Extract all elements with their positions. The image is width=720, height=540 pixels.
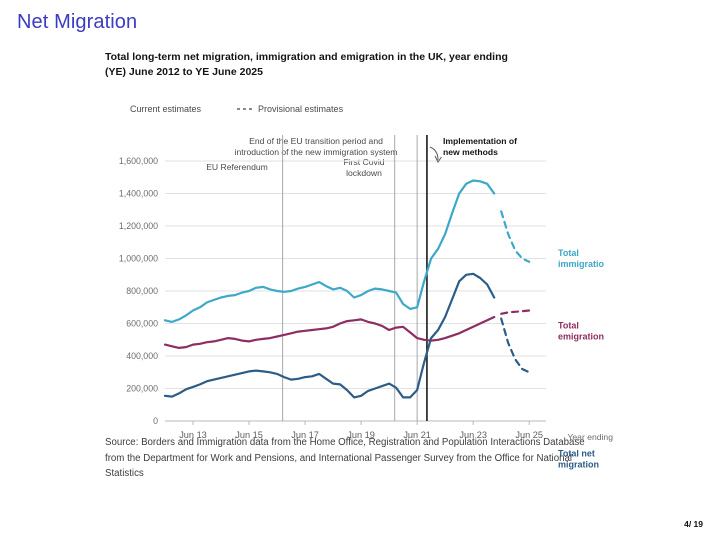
svg-text:800,000: 800,000 xyxy=(126,286,158,296)
svg-text:1,600,000: 1,600,000 xyxy=(119,156,158,166)
slide-title: Net Migration xyxy=(17,11,137,34)
svg-text:Total: Total xyxy=(558,321,579,331)
legend-item-provisional: Provisional estimates xyxy=(237,104,343,114)
svg-text:1,400,000: 1,400,000 xyxy=(119,189,158,199)
legend-label-provisional: Provisional estimates xyxy=(258,104,343,114)
figure-container: Total long-term net migration, immigrati… xyxy=(105,50,615,490)
svg-text:400,000: 400,000 xyxy=(126,351,158,361)
chart-y-axis-labels: 0200,000400,000600,000800,0001,000,0001,… xyxy=(119,156,158,426)
dashed-line-icon xyxy=(237,108,254,110)
figure-source: Source: Borders and Immigration data fro… xyxy=(105,435,605,482)
legend-item-current: Current estimates xyxy=(130,104,201,114)
svg-text:600,000: 600,000 xyxy=(126,319,158,329)
page-number: 4/ 19 xyxy=(684,519,703,529)
svg-text:emigration: emigration xyxy=(558,332,604,342)
annotation-arrow-icon xyxy=(430,147,442,162)
svg-text:200,000: 200,000 xyxy=(126,384,158,394)
chart-series-lines xyxy=(165,181,529,398)
svg-text:1,000,000: 1,000,000 xyxy=(119,254,158,264)
figure-title: Total long-term net migration, immigrati… xyxy=(105,50,525,79)
svg-text:0: 0 xyxy=(153,416,158,426)
svg-text:immigratio: immigratio xyxy=(558,259,605,269)
legend-label-current: Current estimates xyxy=(130,104,201,114)
chart-gridlines xyxy=(165,161,546,421)
chart-legend: Current estimates Provisional estimates xyxy=(130,104,343,114)
svg-text:Total: Total xyxy=(558,248,579,258)
svg-text:1,200,000: 1,200,000 xyxy=(119,221,158,231)
